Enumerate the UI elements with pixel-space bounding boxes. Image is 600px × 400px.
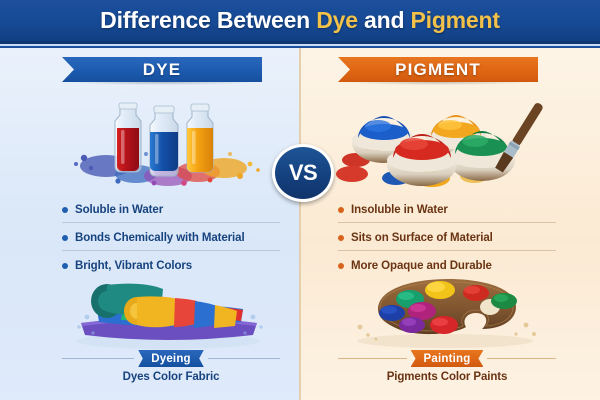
bullet-dot-icon — [62, 235, 68, 241]
vs-badge-label: VS — [289, 160, 317, 186]
panel-divider — [299, 48, 301, 400]
list-item: Sits on Surface of Material — [338, 228, 556, 251]
title-highlight-pigment: Pigment — [410, 7, 499, 33]
dye-banner: DYE — [62, 57, 262, 82]
list-item: Soluble in Water — [62, 200, 280, 223]
bullet-dot-icon — [62, 263, 68, 269]
title-highlight-dye: Dye — [316, 7, 358, 33]
dyeing-ribbon: Dyeing — [138, 350, 204, 367]
pigment-properties-list: Insoluble in Water Sits on Surface of Ma… — [338, 200, 556, 278]
title-part-1: Difference Between — [100, 7, 316, 33]
header-bar: Difference Between Dye and Pigment — [0, 0, 600, 41]
dyeing-ribbon-label: Dyeing — [151, 353, 191, 365]
painting-ribbon-label: Painting — [424, 353, 471, 365]
painting-ribbon: Painting — [411, 350, 484, 367]
page-title: Difference Between Dye and Pigment — [100, 7, 500, 34]
folded-dyed-fabric-illustration — [63, 277, 273, 349]
dye-subcaption: Dyes Color Fabric — [62, 371, 280, 383]
list-item-label: More Opaque and Durable — [351, 260, 492, 272]
caption-line-right — [487, 358, 556, 359]
header-stripe-blue — [0, 46, 600, 48]
list-item-label: Bonds Chemically with Material — [75, 232, 245, 244]
list-item-label: Insoluble in Water — [351, 204, 448, 216]
bullet-dot-icon — [338, 235, 344, 241]
vs-badge: VS — [272, 144, 334, 202]
bullet-dot-icon — [338, 207, 344, 213]
list-item: Bonds Chemically with Material — [62, 228, 280, 251]
dye-banner-label: DYE — [143, 60, 182, 80]
list-item: Bright, Vibrant Colors — [62, 256, 280, 278]
list-item: More Opaque and Durable — [338, 256, 556, 278]
dye-bottles-illustration — [58, 88, 278, 188]
caption-line-right — [208, 358, 280, 359]
list-item-label: Bright, Vibrant Colors — [75, 260, 192, 272]
pigment-banner-label: PIGMENT — [395, 60, 481, 80]
caption-line-left — [338, 358, 407, 359]
list-item-label: Soluble in Water — [75, 204, 163, 216]
caption-line-left — [62, 358, 134, 359]
wooden-paint-palette-illustration — [340, 277, 550, 349]
pigment-subcaption: Pigments Color Paints — [338, 371, 556, 383]
bullet-dot-icon — [62, 207, 68, 213]
bullet-dot-icon — [338, 263, 344, 269]
pigment-banner: PIGMENT — [338, 57, 538, 82]
dyeing-caption-ribbon: Dyeing — [62, 350, 280, 367]
list-item-label: Sits on Surface of Material — [351, 232, 493, 244]
list-item: Insoluble in Water — [338, 200, 556, 223]
infographic-poster: Difference Between Dye and Pigment DYE P… — [0, 0, 600, 400]
pigment-powder-bowls-illustration — [334, 88, 554, 188]
dye-properties-list: Soluble in Water Bonds Chemically with M… — [62, 200, 280, 278]
title-part-2: and — [358, 7, 411, 33]
painting-caption-ribbon: Painting — [338, 350, 556, 367]
